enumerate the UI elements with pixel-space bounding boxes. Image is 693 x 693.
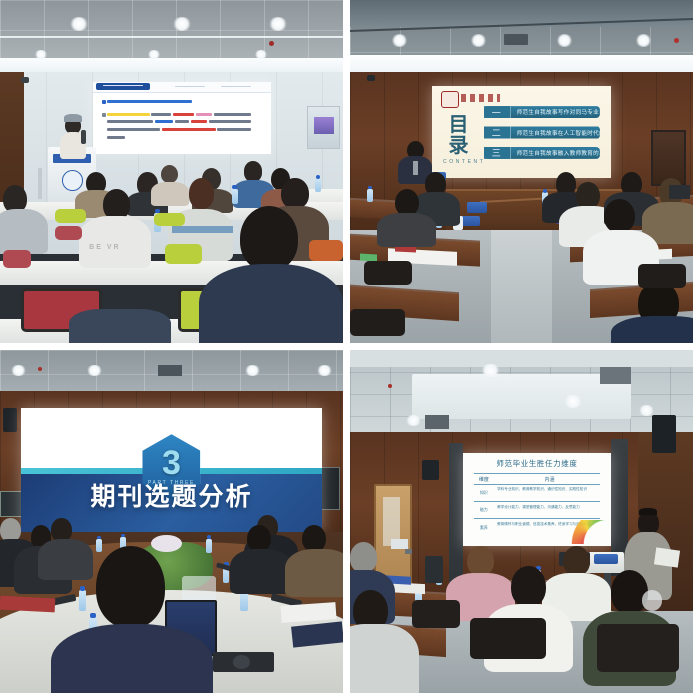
projection-screen[interactable]: 目录 CONTENT 一 师范生自我故事写作对同马专业自我建构的动态过程 二 师… (432, 86, 610, 179)
wall-speaker (422, 460, 439, 481)
table-cell-dimension: 知识 (474, 490, 495, 495)
slide-text-line (209, 120, 252, 123)
slide-active-tab[interactable] (96, 83, 150, 90)
chair-back (364, 261, 412, 285)
chair-back (154, 213, 185, 227)
door-handle[interactable] (405, 549, 412, 554)
downlight (391, 34, 408, 46)
wall-display-screen (314, 117, 335, 134)
foreground-head (240, 206, 298, 271)
photo-top-right[interactable]: 目录 CONTENT 一 师范生自我故事写作对同马专业自我建构的动态过程 二 师… (350, 0, 693, 343)
slide-text-line (151, 113, 171, 116)
ceiling-recess (412, 374, 632, 419)
photo-bottom-right[interactable]: 师范毕业生胜任力维度 维度 内涵 知识 学科专业知识、教育教学知识、通识性知识、… (350, 350, 693, 693)
marker-pen (360, 253, 377, 261)
slide-bullet-marker (102, 113, 106, 117)
ceiling (0, 0, 343, 58)
slide-heading-line (107, 100, 193, 103)
water-bottle (96, 539, 101, 553)
audience-head (611, 570, 649, 615)
presenter-hat (64, 114, 83, 122)
slide-bullet-marker (102, 100, 106, 104)
rainbow-swoosh-icon (569, 520, 607, 544)
agenda-heading-cn: 目录 (443, 115, 475, 157)
slide-inactive-tab[interactable] (175, 86, 205, 88)
attendee-body (285, 549, 343, 597)
projection-screen[interactable] (93, 82, 271, 154)
agenda-heading-en: CONTENT (443, 160, 475, 165)
water-bottle (79, 590, 87, 611)
table-header-dimension: 维度 (474, 476, 495, 483)
agenda-heading: 目录 CONTENT (443, 115, 475, 165)
audience-head (244, 161, 263, 182)
audience-head (350, 542, 377, 573)
institution-name-mark (461, 94, 500, 102)
mic-stand (38, 168, 42, 199)
agenda-item-1[interactable]: 一 师范生自我故事写作对同马专业自我建构的动态过程 (484, 106, 600, 118)
audience-head (563, 546, 590, 577)
agenda-item-number: 一 (484, 106, 511, 118)
audience-head (189, 178, 215, 209)
slide-text-highlight (155, 120, 173, 123)
agenda-item-text: 师范生自我故事融入教师教育的系统化方案 (511, 149, 600, 157)
slide-text-line (107, 136, 125, 139)
chair-back (309, 240, 343, 261)
podium-emblem (62, 170, 83, 191)
chair-back (3, 250, 30, 267)
chair-back (597, 624, 679, 672)
microphone (81, 130, 86, 144)
agenda-item-text: 师范生自我故事在人工智能时代的必要性 (511, 129, 600, 137)
audience-body (151, 182, 189, 206)
foreground-bag (69, 309, 172, 343)
water-bottle (367, 189, 372, 203)
agenda-item-number: 三 (484, 147, 511, 159)
institution-seal-icon (441, 91, 459, 108)
table-rule-header (474, 484, 601, 485)
agenda-item-3[interactable]: 三 师范生自我故事融入教师教育的系统化方案 (484, 147, 600, 159)
security-camera (21, 77, 29, 83)
audience-head (511, 566, 545, 607)
slide-inactive-tab[interactable] (221, 86, 251, 88)
agenda-item-2[interactable]: 二 师范生自我故事在人工智能时代的必要性 (484, 126, 600, 138)
presenter-hair (639, 508, 657, 516)
slide-text-line (107, 128, 161, 131)
foreground-body (611, 316, 693, 343)
attendee-body (230, 549, 292, 594)
ceiling-edge (350, 350, 693, 367)
chair-back (55, 209, 86, 223)
audience-body (350, 624, 419, 693)
projection-screen[interactable]: 3 PART THREE 期刊选题分析 (21, 408, 323, 531)
section-title: 期刊选题分析 (21, 477, 323, 513)
table-cell-dimension: 素养 (474, 525, 495, 530)
wall-speaker (652, 415, 676, 453)
downlight (172, 17, 193, 31)
downlight (556, 34, 573, 46)
podium-nameplate (594, 554, 618, 564)
water-bottle (206, 539, 212, 553)
desk-nameplate (467, 202, 488, 212)
agenda-item-text: 师范生自我故事写作对同马专业自我建构的动态过程 (511, 108, 600, 116)
audience-head (395, 189, 419, 216)
table-cell-content: 学科专业知识、教育教学知识、通识性知识、实践性知识 (497, 487, 600, 492)
chair-back (165, 244, 203, 265)
downlight (268, 17, 289, 31)
jacket-text: BE VR (89, 244, 130, 254)
table-rule-top (474, 473, 601, 474)
ceiling-vent (158, 365, 182, 375)
ceiling-light-strip (0, 36, 343, 38)
audience-body (79, 216, 151, 267)
slide-text-line (175, 120, 189, 123)
slide-table-title: 师范毕业生胜任力维度 (463, 458, 610, 469)
audience-body (0, 209, 48, 254)
downlight (147, 50, 161, 59)
floor-aisle (491, 230, 553, 343)
chair-back (350, 309, 405, 336)
foreground-head (96, 546, 165, 628)
foreground-body (51, 624, 212, 693)
chair-back (55, 226, 82, 240)
slide-text-highlight (173, 113, 194, 116)
audience-head (467, 546, 494, 577)
slide-text-highlight (191, 120, 207, 123)
red-folder (0, 596, 55, 613)
downlight (34, 50, 48, 59)
slide-text-line (217, 128, 251, 131)
chair-back (412, 600, 460, 627)
table-rule-row (474, 501, 601, 502)
photo-collage: BE VR (0, 0, 693, 693)
security-camera (367, 75, 375, 81)
attendee-body (38, 539, 93, 580)
light-flare (642, 590, 663, 611)
ceiling-vent (425, 415, 449, 429)
slide-tabbar (93, 82, 271, 92)
agenda-item-number: 二 (484, 126, 511, 138)
downlight (635, 34, 652, 46)
photo-top-left[interactable]: BE VR (0, 0, 343, 343)
presenter-lanyard (413, 161, 418, 175)
table-cell-content: 教学设计能力、课堂管理能力、沟通能力、反思能力 (497, 505, 600, 510)
downlight (69, 17, 90, 31)
audience-head (604, 199, 635, 233)
ceiling-vent (600, 367, 631, 384)
slide-text-highlight (162, 128, 216, 131)
ceiling-smoke-detector (38, 367, 42, 371)
projection-screen[interactable]: 师范毕业生胜任力维度 维度 内涵 知识 学科专业知识、教育教学知识、通识性知识、… (463, 453, 610, 546)
presenter-papers (654, 547, 680, 567)
table-header-content: 内涵 (499, 476, 601, 483)
audience-head (103, 189, 130, 220)
foreground-body (199, 264, 343, 343)
table-cell-dimension: 能力 (474, 507, 495, 512)
door-sign (391, 539, 408, 549)
audience-head (281, 178, 308, 209)
scarf-stripe (172, 226, 234, 233)
wall-speaker (320, 467, 339, 510)
paper-sheet (281, 602, 337, 623)
ceiling-vent (504, 34, 528, 44)
water-bottle (232, 189, 238, 204)
slide-text-highlight (196, 113, 212, 116)
slide-text-line (107, 120, 153, 123)
slide-text-highlight (107, 113, 150, 116)
wall-speaker (3, 408, 17, 432)
downlight (254, 50, 268, 59)
slide-text-line (214, 113, 251, 116)
chair-back (638, 264, 686, 288)
water-bottle (315, 178, 321, 192)
photo-bottom-left[interactable]: 3 PART THREE 期刊选题分析 (0, 350, 343, 693)
section-number: 3 (162, 448, 181, 479)
audience-body (377, 213, 435, 247)
device-screen (425, 556, 442, 583)
chair-back (470, 618, 545, 659)
table-rule-row (474, 518, 601, 519)
smartphone (669, 185, 690, 199)
downlight (470, 34, 487, 46)
